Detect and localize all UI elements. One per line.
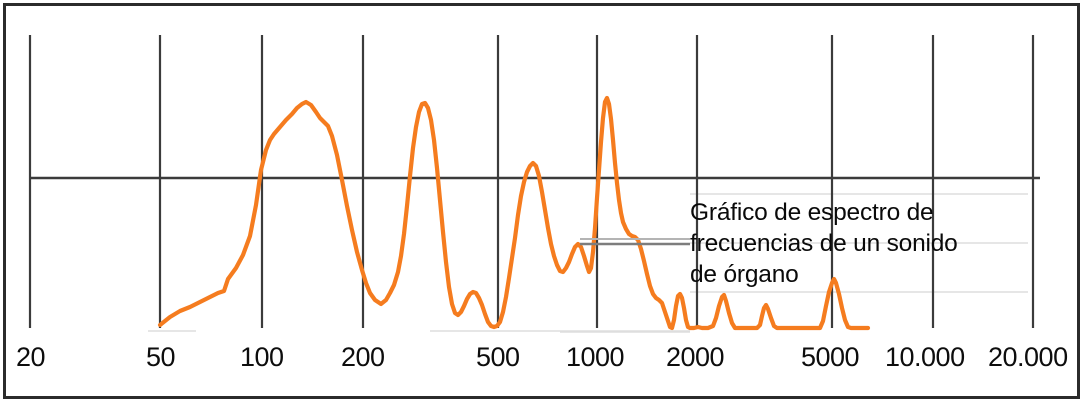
- annotation-line-1: Gráfico de espectro de: [690, 197, 1026, 228]
- x-tick-label-20: 20: [16, 344, 45, 371]
- x-tick-label-100: 100: [240, 344, 284, 371]
- x-tick-label-20000: 20.000: [988, 344, 1068, 371]
- x-tick-label-500: 500: [476, 344, 520, 371]
- annotation-callout: Gráfico de espectro de frecuencias de un…: [690, 197, 1026, 290]
- x-tick-label-200: 200: [341, 344, 385, 371]
- x-tick-label-1000: 1000: [566, 344, 624, 371]
- annotation-line-3: de órgano: [690, 259, 1026, 290]
- x-tick-label-2000: 2000: [666, 344, 724, 371]
- annotation-line-2: frecuencias de un sonido: [690, 228, 1026, 259]
- x-tick-label-5000: 5000: [801, 344, 859, 371]
- spectrum-figure: Gráfico de espectro de frecuencias de un…: [0, 0, 1083, 402]
- plot-area: Gráfico de espectro de frecuencias de un…: [0, 0, 1083, 402]
- x-tick-label-50: 50: [146, 344, 175, 371]
- x-tick-label-10000: 10.000: [885, 344, 965, 371]
